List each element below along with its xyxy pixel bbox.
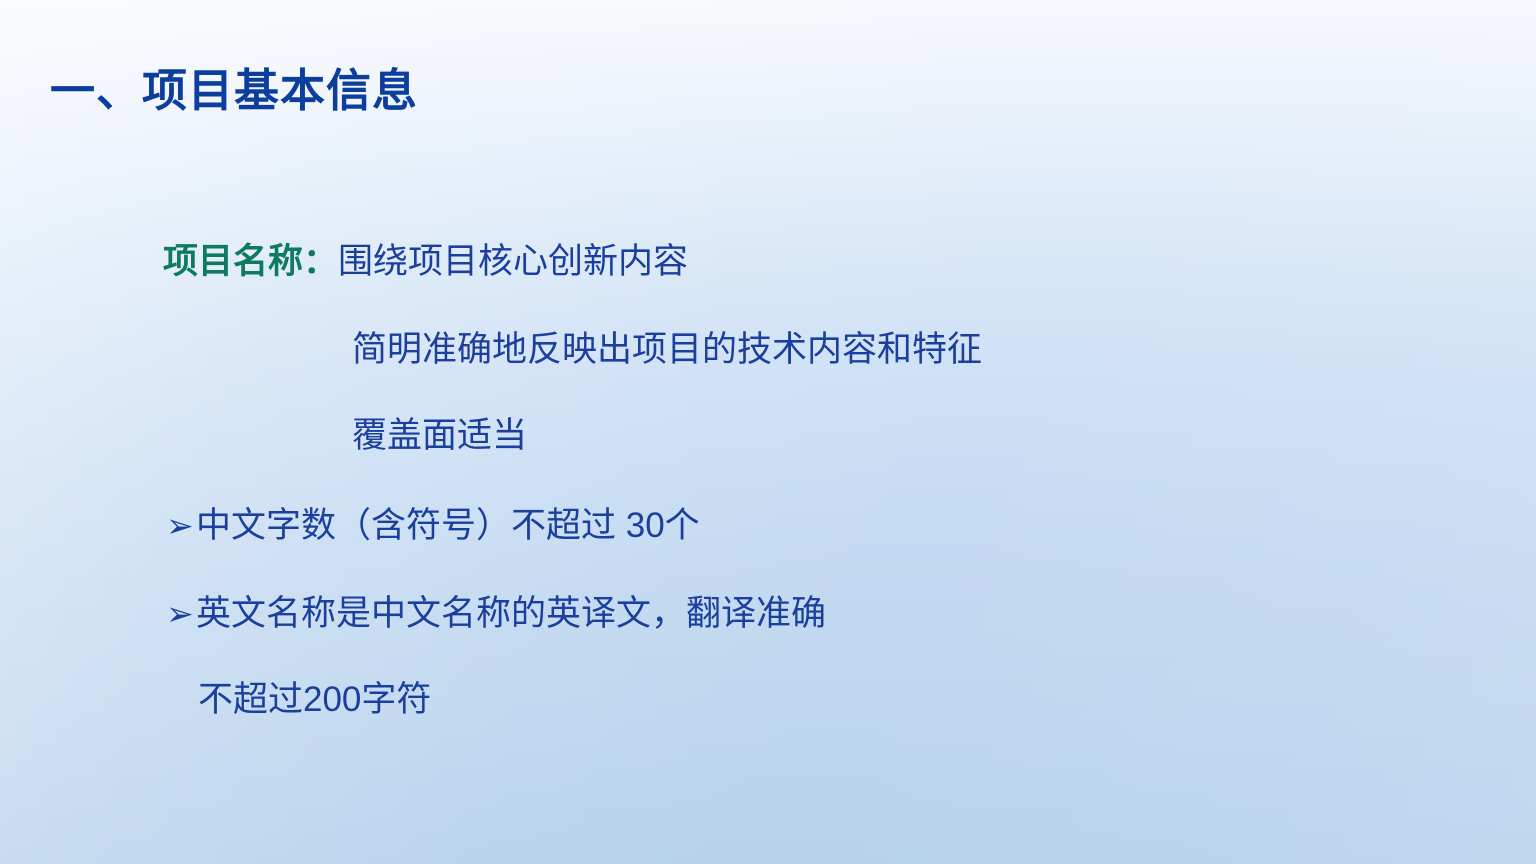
list-item: ➢ 中文字数（含符号）不超过 30个 (166, 508, 700, 543)
list-item-continuation: 不超过200字符 (198, 682, 431, 717)
list-item-label: 英文名称是中文名称的英译文，翻译准确 (196, 596, 826, 631)
arrow-bullet-icon: ➢ (166, 597, 196, 630)
project-name-row: 项目名称：围绕项目核心创新内容 (163, 244, 688, 279)
list-item: ➢ 英文名称是中文名称的英译文，翻译准确 (166, 596, 826, 631)
page-number: 6 (0, 32, 1440, 51)
project-name-value: 围绕项目核心创新内容 (338, 242, 688, 281)
arrow-bullet-icon: ➢ (166, 509, 196, 542)
project-name-detail-line-2: 覆盖面适当 (352, 418, 527, 453)
project-name-detail-line-1: 简明准确地反映出项目的技术内容和特征 (352, 332, 982, 367)
page-title: 一、项目基本信息 (50, 64, 1536, 118)
project-name-label: 项目名称： (163, 242, 338, 281)
slide-canvas: 一、项目基本信息 项目名称：围绕项目核心创新内容 简明准确地反映出项目的技术内容… (0, 0, 1536, 864)
list-item-label: 中文字数（含符号）不超过 30个 (196, 508, 700, 543)
